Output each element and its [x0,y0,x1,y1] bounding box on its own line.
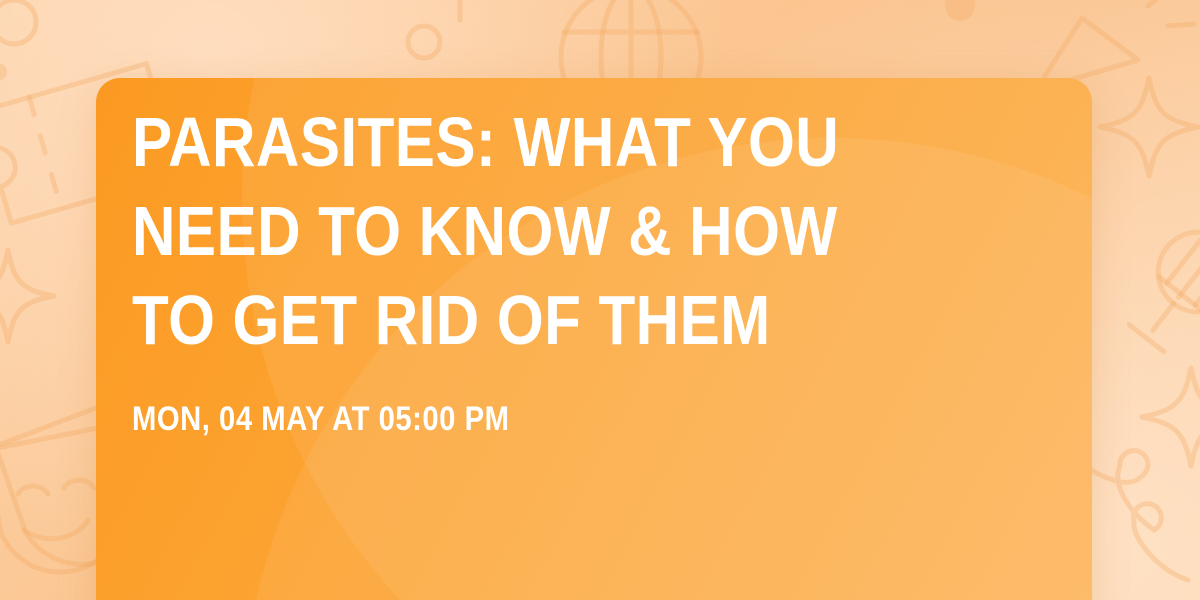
sparkle-star-icon [0,236,68,356]
small-dot-icon [0,52,26,92]
microphone-icon [1106,222,1200,412]
sparkle-star-icon [1084,62,1200,192]
circle-outline-icon [0,0,54,62]
dot-icon [930,0,990,42]
confetti-streamer-icon [440,0,480,38]
event-title: Parasites: What You Need To Know & How T… [132,98,923,365]
balloon-string-swirl-icon [1078,440,1200,600]
event-poster: Parasites: What You Need To Know & How T… [0,0,1200,600]
ring-outline-icon [394,12,454,72]
event-card: Parasites: What You Need To Know & How T… [96,78,1092,600]
sparkle-star-icon [1126,352,1200,482]
event-date-time: Mon, 04 May at 05:00 PM [132,365,923,439]
card-content: Parasites: What You Need To Know & How T… [132,98,1052,439]
